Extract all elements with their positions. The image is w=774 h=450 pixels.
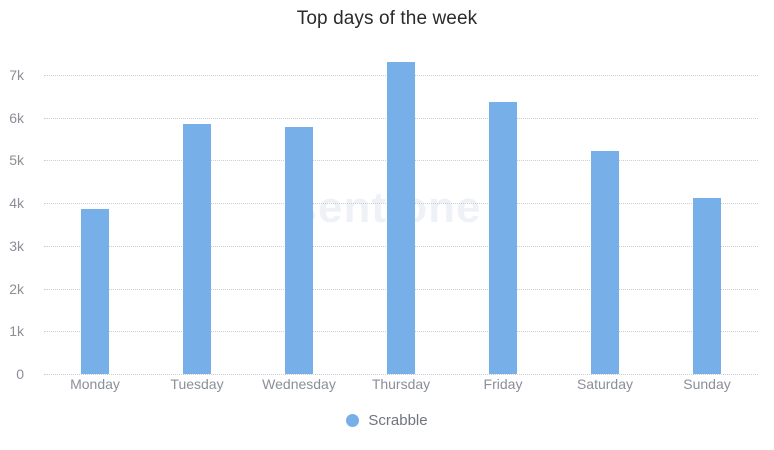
bar-sunday[interactable]: [693, 198, 721, 375]
bar-chart: Top days of the week sentione 01k2k3k4k5…: [0, 0, 774, 450]
y-tick-label-7k: 7k: [0, 67, 24, 83]
bar-monday[interactable]: [81, 209, 109, 374]
y-tick-label-1k: 1k: [0, 323, 24, 339]
bar-wednesday[interactable]: [285, 127, 313, 374]
x-tick-label-sunday: Sunday: [647, 376, 767, 392]
bar-friday[interactable]: [489, 102, 517, 374]
legend-label-scrabble: Scrabble: [368, 412, 427, 429]
bar-thursday[interactable]: [387, 62, 415, 374]
y-tick-label-0: 0: [0, 366, 24, 382]
chart-title: Top days of the week: [0, 8, 774, 30]
y-tick-label-2k: 2k: [0, 281, 24, 297]
y-tick-label-4k: 4k: [0, 195, 24, 211]
x-axis: MondayTuesdayWednesdayThursdayFridaySatu…: [44, 376, 758, 400]
legend-marker-scrabble: [346, 414, 359, 427]
plot-area: 01k2k3k4k5k6k7k: [44, 62, 758, 374]
bar-tuesday[interactable]: [183, 124, 211, 374]
chart-legend: Scrabble: [0, 412, 774, 429]
y-tick-label-5k: 5k: [0, 152, 24, 168]
y-tick-label-3k: 3k: [0, 238, 24, 254]
y-tick-label-6k: 6k: [0, 110, 24, 126]
bar-saturday[interactable]: [591, 151, 619, 374]
